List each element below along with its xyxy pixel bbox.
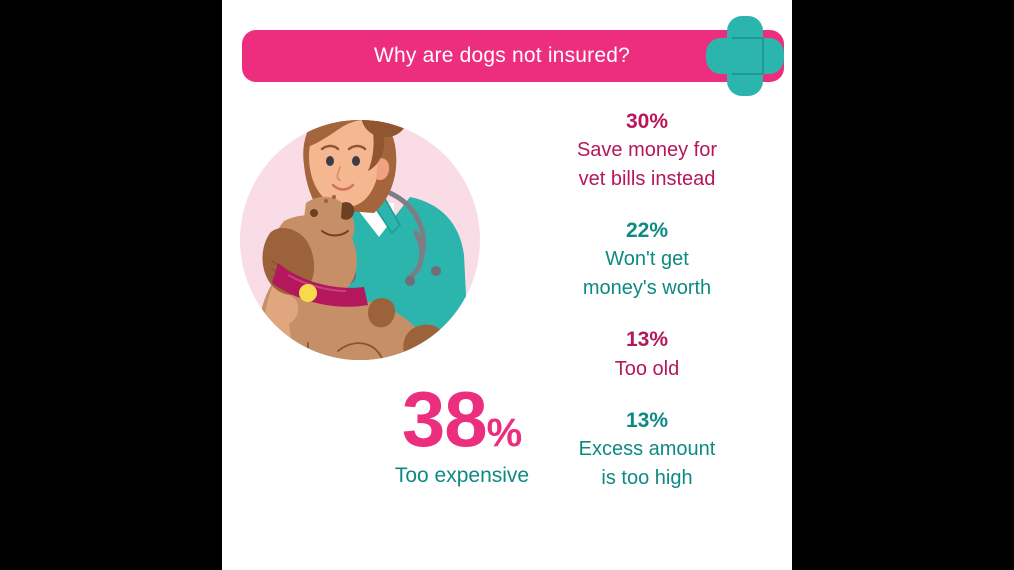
stethoscope-earpiece-right [431, 266, 441, 276]
stat-label-line2: vet bills instead [522, 165, 772, 193]
stat-value: 30% [522, 108, 772, 136]
infographic-canvas: Why are dogs not insured? [222, 0, 792, 570]
stat-item: 30% Save money for vet bills instead [522, 108, 772, 193]
stat-value: 13% [522, 326, 772, 354]
stat-label-line2: is too high [522, 464, 772, 492]
stat-label-line1: Save money for [522, 136, 772, 164]
dog-eye [310, 209, 318, 217]
stat-list: 30% Save money for vet bills instead 22%… [522, 108, 772, 516]
header-banner: Why are dogs not insured? [242, 30, 784, 82]
medical-cross-icon [706, 16, 784, 96]
stat-item: 22% Won't get money's worth [522, 217, 772, 302]
vet-hair-bun [361, 89, 408, 137]
stat-label-line2: money's worth [522, 274, 772, 302]
primary-stat-unit: % [487, 411, 523, 456]
stat-item: 13% Excess amount is too high [522, 407, 772, 492]
dog-spot-2 [403, 325, 448, 372]
dog-spot-3 [371, 360, 394, 375]
stat-label-line1: Too old [522, 355, 772, 383]
primary-stat-value: 38 [402, 382, 487, 456]
stat-item: 13% Too old [522, 326, 772, 383]
vet-eye-right [352, 156, 360, 166]
stat-label-line1: Excess amount [522, 435, 772, 463]
vet-with-dog-illustration [230, 85, 490, 375]
screenshot-stage: Why are dogs not insured? [0, 0, 1014, 570]
stat-value: 13% [522, 407, 772, 435]
stat-value: 22% [522, 217, 772, 245]
vet-eye-left [326, 156, 334, 166]
stethoscope-earpiece-left [405, 276, 415, 286]
page-title: Why are dogs not insured? [242, 30, 762, 82]
stat-label-line1: Won't get [522, 245, 772, 273]
dog-collar-tag [299, 284, 317, 302]
